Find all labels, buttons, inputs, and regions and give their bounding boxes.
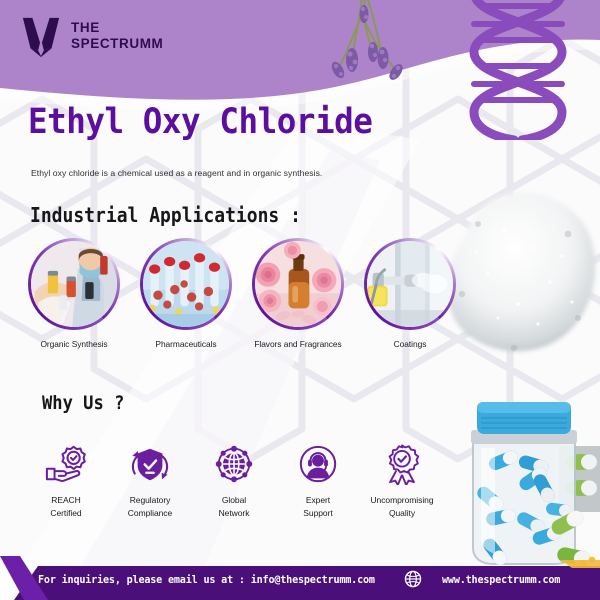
application-item[interactable]: Flavors and Fragrances <box>242 238 354 350</box>
footer-email-text[interactable]: For inquiries, please email us at : info… <box>38 573 375 586</box>
why-us-label-line2: Network <box>219 508 250 518</box>
application-image-ring <box>252 238 344 330</box>
infographic-poster: THE SPECTRUMM <box>0 0 600 600</box>
dna-helix-icon <box>452 0 592 140</box>
why-us-item[interactable]: Uncompromising Quality <box>360 443 444 519</box>
why-us-label: Regulatory Compliance <box>128 494 172 519</box>
page-subtitle: Ethyl oxy chloride is a chemical used as… <box>31 168 322 178</box>
globe-icon <box>404 570 422 588</box>
why-us-label-line2: Certified <box>50 508 81 518</box>
application-label: Pharmaceuticals <box>155 339 216 350</box>
pill-jar-capsules-image <box>455 398 600 570</box>
applications-heading: Industrial Applications : <box>30 203 301 227</box>
why-us-label-line1: Expert <box>306 495 330 505</box>
why-us-label-line2: Quality <box>389 508 415 518</box>
why-us-heading: Why Us ? <box>42 392 124 414</box>
brand-logo[interactable]: THE SPECTRUMM <box>20 14 163 58</box>
application-item[interactable]: Pharmaceuticals <box>130 238 242 350</box>
award-ribbon-check-icon <box>381 443 423 485</box>
why-us-label-line1: Uncompromising <box>370 495 433 505</box>
why-us-item[interactable]: REACH Certified <box>24 443 108 519</box>
lavender-sprig-image <box>322 0 422 104</box>
why-us-label: REACH Certified <box>50 494 81 519</box>
why-us-label: Expert Support <box>303 494 332 519</box>
headset-agent-icon <box>297 443 339 485</box>
brand-name-line2: SPECTRUMM <box>71 36 163 52</box>
applications-list: Organic Synthesis <box>18 238 468 350</box>
scientist-holding-vials-image <box>31 241 117 327</box>
application-image-ring <box>28 238 120 330</box>
roses-perfume-bottle-image <box>255 241 341 327</box>
why-us-item[interactable]: Expert Support <box>276 443 360 519</box>
shield-check-arrows-icon <box>129 443 171 485</box>
application-label: Flavors and Fragrances <box>254 339 341 350</box>
application-image-ring <box>364 238 456 330</box>
application-item[interactable]: Coatings <box>354 238 466 350</box>
why-us-label: Uncompromising Quality <box>370 494 433 519</box>
brand-name-line1: THE <box>71 20 163 36</box>
why-us-label-line1: REACH <box>51 495 81 505</box>
application-item[interactable]: Organic Synthesis <box>18 238 130 350</box>
globe-network-icon <box>213 443 255 485</box>
why-us-item[interactable]: Global Network <box>192 443 276 519</box>
why-us-item[interactable]: Regulatory Compliance <box>108 443 192 519</box>
why-us-label-line2: Compliance <box>128 508 172 518</box>
lab-test-tubes-image <box>143 241 229 327</box>
why-us-list: REACH Certified Regulatory Compliance <box>24 443 474 519</box>
hand-certificate-icon <box>45 443 87 485</box>
why-us-label-line1: Regulatory <box>130 495 171 505</box>
spectrumm-w-mark-icon <box>20 14 62 58</box>
footer-website-link[interactable]: www.thespectrumm.com <box>442 573 560 586</box>
application-label: Coatings <box>394 339 427 350</box>
why-us-label: Global Network <box>219 494 250 519</box>
page-title: Ethyl Oxy Chloride <box>28 102 372 142</box>
why-us-label-line1: Global <box>222 495 246 505</box>
application-label: Organic Synthesis <box>40 339 107 350</box>
spray-gun-coating-image <box>367 241 453 327</box>
why-us-label-line2: Support <box>303 508 332 518</box>
application-image-ring <box>140 238 232 330</box>
